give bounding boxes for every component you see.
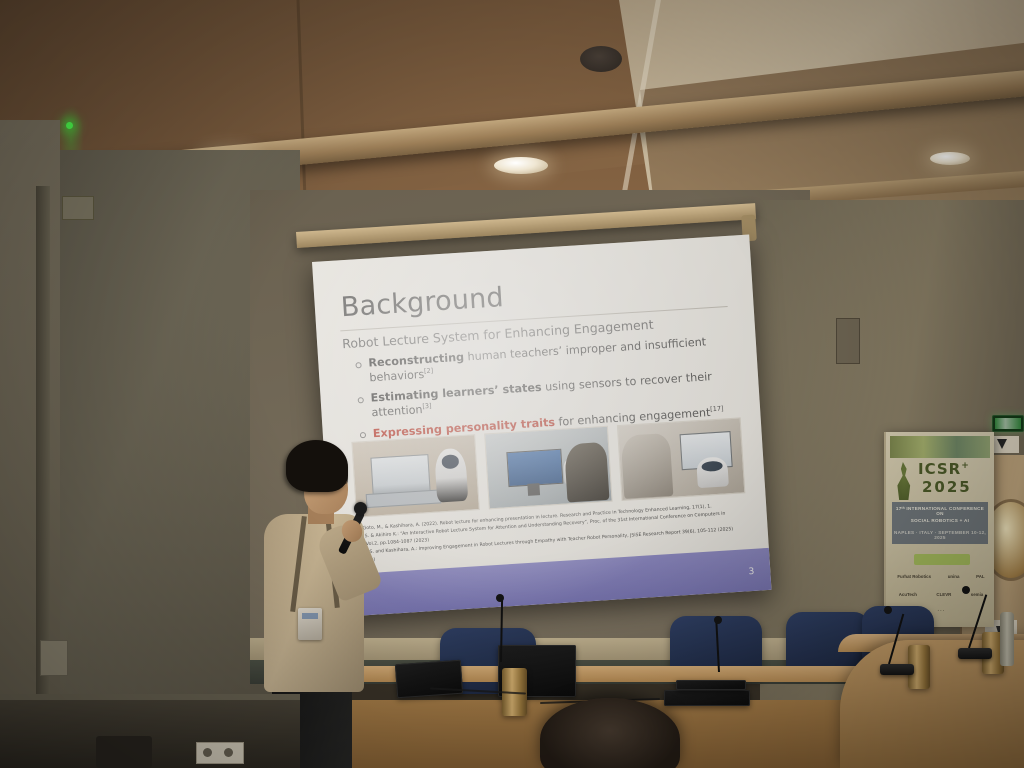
microphone-head-icon xyxy=(496,594,504,602)
keyboard-surface xyxy=(664,690,750,706)
bullet-reference-sup: [17] xyxy=(710,405,724,414)
bullet-reference-sup: [2] xyxy=(424,367,434,376)
tabletop-robot-shape xyxy=(696,456,730,488)
wall-plate xyxy=(40,640,68,676)
socket-hole-icon xyxy=(203,748,212,757)
microphone-base[interactable] xyxy=(958,648,992,659)
exit-pictogram-icon xyxy=(995,418,1021,429)
microphone-head-icon xyxy=(714,616,722,624)
robot-shape xyxy=(434,448,469,503)
banner-line-1: 17ᵗʰ INTERNATIONAL CONFERENCE ON xyxy=(892,506,988,516)
socket-hole-icon xyxy=(224,748,233,757)
sponsor-logo: PAL xyxy=(976,574,984,579)
floor-equipment xyxy=(96,736,152,768)
slide-photo-tabletop-robot xyxy=(617,417,746,501)
banner-title-sup: + xyxy=(961,461,970,471)
microphone-head-icon xyxy=(884,606,892,614)
water-bottle[interactable] xyxy=(1000,612,1014,666)
learner-shape xyxy=(564,442,609,502)
microphone-head-icon xyxy=(962,586,970,594)
laptop-lid xyxy=(395,660,463,699)
monitor-stand-shape xyxy=(527,483,540,496)
projection-screen: Background Robot Lecture System for Enha… xyxy=(312,234,771,617)
sponsor-logo: unina xyxy=(948,574,960,579)
exit-sign xyxy=(992,415,1024,432)
sponsor-logo: CLEVR xyxy=(936,592,951,597)
bullet-reference-sup: [3] xyxy=(422,402,432,411)
bullet-bold-text: Estimating learners’ states xyxy=(370,381,542,405)
banner-sponsor-row: AcuTech CLEVR semia xyxy=(889,592,993,597)
wall-speaker-bracket xyxy=(836,318,860,364)
banner-info-box: 17ᵗʰ INTERNATIONAL CONFERENCE ON SOCIAL … xyxy=(892,502,988,544)
microphone-base[interactable] xyxy=(880,664,914,675)
wall-power-socket[interactable] xyxy=(196,742,244,764)
laptop[interactable] xyxy=(395,660,463,699)
cable-bundle xyxy=(676,680,746,690)
banner-line-3: NAPLES · ITALY · SEPTEMBER 10-12, 2025 xyxy=(892,530,988,540)
ceiling-downlight xyxy=(930,152,970,165)
banner-photo-strip xyxy=(890,436,990,458)
indicator-led xyxy=(66,122,73,129)
sponsor-logo: semia xyxy=(971,592,983,597)
sponsor-logo: Furhat Robotics xyxy=(897,574,931,579)
presenter-hair xyxy=(286,440,348,492)
sponsor-logo: AcuTech xyxy=(899,592,917,597)
sponsor-logo: · · · xyxy=(938,608,945,613)
icsr-logo-icon xyxy=(893,462,915,500)
ceiling-downlight xyxy=(494,157,548,174)
bullet-bold-text: Reconstructing xyxy=(368,351,464,370)
icsr-rollup-banner: ICSR+ 2025 17ᵗʰ INTERNATIONAL CONFERENCE… xyxy=(884,432,994,627)
ceiling-speaker xyxy=(580,46,622,72)
banner-sponsor-row: Furhat Robotics unina PAL xyxy=(889,574,993,579)
handheld-microphone-head-icon xyxy=(354,502,367,515)
slide-title: Background xyxy=(340,282,505,323)
banner-title: ICSR+ xyxy=(918,460,970,478)
keyboard[interactable] xyxy=(664,690,750,706)
presentation-photo-scene: ICSR+ 2025 17ᵗʰ INTERNATIONAL CONFERENCE… xyxy=(0,0,1024,768)
banner-line-2: SOCIAL ROBOTICS + AI xyxy=(892,518,988,523)
slide-photo-nao-robot xyxy=(484,426,613,510)
learner-shape xyxy=(621,433,674,498)
banner-cta-block xyxy=(914,554,970,565)
banner-year: 2025 xyxy=(922,478,972,496)
conference-badge xyxy=(298,608,322,640)
cable-bundle-surface xyxy=(676,680,746,690)
monitor-shape xyxy=(506,449,564,487)
wall-device-box xyxy=(62,196,94,220)
slide-number: 3 xyxy=(748,567,754,577)
